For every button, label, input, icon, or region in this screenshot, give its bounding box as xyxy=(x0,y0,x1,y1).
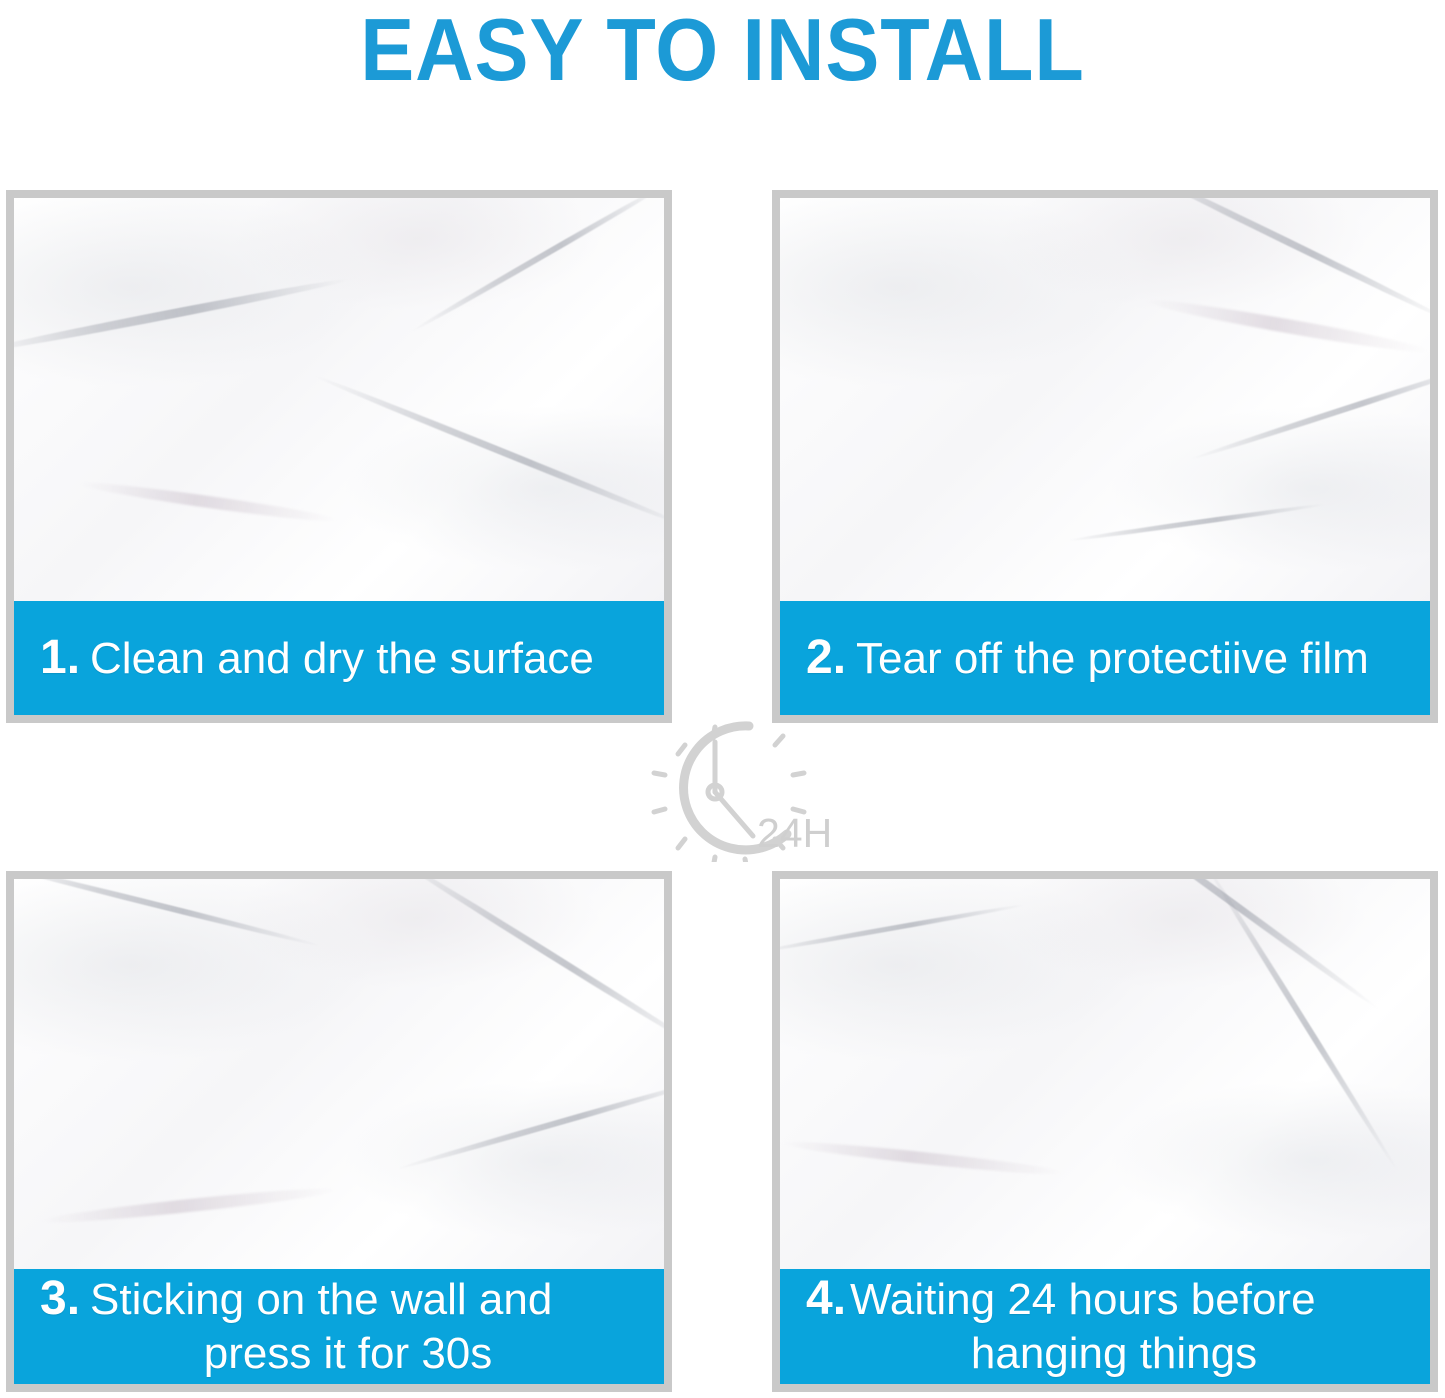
step-4-caption: 4.Waiting 24 hours before hanging things xyxy=(780,1269,1430,1384)
step-panel-3: 3.Sticking on the wall and press it for … xyxy=(6,871,672,1392)
step-4-photo xyxy=(780,879,1430,1269)
step-3-number: 3. xyxy=(40,1272,80,1325)
step-3-photo xyxy=(14,879,664,1269)
page-title: EASY TO INSTALL xyxy=(58,0,1387,100)
step-4-number: 4. xyxy=(806,1272,846,1325)
step-2-number: 2. xyxy=(806,631,846,684)
step-3-text-line-2: press it for 30s xyxy=(40,1327,638,1381)
step-3-caption: 3.Sticking on the wall and press it for … xyxy=(14,1269,664,1384)
step-1-photo xyxy=(14,198,664,601)
wait-24h-badge: 24H xyxy=(637,712,852,862)
marble-background xyxy=(780,198,1430,601)
step-1-number: 1. xyxy=(40,631,80,684)
step-3-text-line-1: Sticking on the wall and xyxy=(90,1275,552,1324)
step-4-text-line-1: Waiting 24 hours before xyxy=(850,1275,1316,1324)
step-1-text: Clean and dry the surface xyxy=(90,634,594,683)
step-2-caption-line-1: 2.Tear off the protectiive film xyxy=(806,631,1404,686)
step-panel-4: 4.Waiting 24 hours before hanging things xyxy=(772,871,1438,1392)
step-4-caption-line-1: 4.Waiting 24 hours before xyxy=(806,1272,1404,1327)
step-2-photo xyxy=(780,198,1430,601)
step-3-caption-line-1: 3.Sticking on the wall and xyxy=(40,1272,638,1327)
clock-icon xyxy=(637,712,852,862)
badge-label: 24H xyxy=(757,810,832,857)
step-panel-1: 1.Clean and dry the surface xyxy=(6,190,672,723)
step-2-caption: 2.Tear off the protectiive film xyxy=(780,601,1430,715)
marble-background xyxy=(780,879,1430,1269)
step-4-text-line-2: hanging things xyxy=(806,1327,1404,1381)
marble-background xyxy=(14,198,664,601)
step-2-text: Tear off the protectiive film xyxy=(856,634,1369,683)
step-panel-2: 2.Tear off the protectiive film xyxy=(772,190,1438,723)
step-1-caption: 1.Clean and dry the surface xyxy=(14,601,664,715)
step-1-caption-line-1: 1.Clean and dry the surface xyxy=(40,631,638,686)
